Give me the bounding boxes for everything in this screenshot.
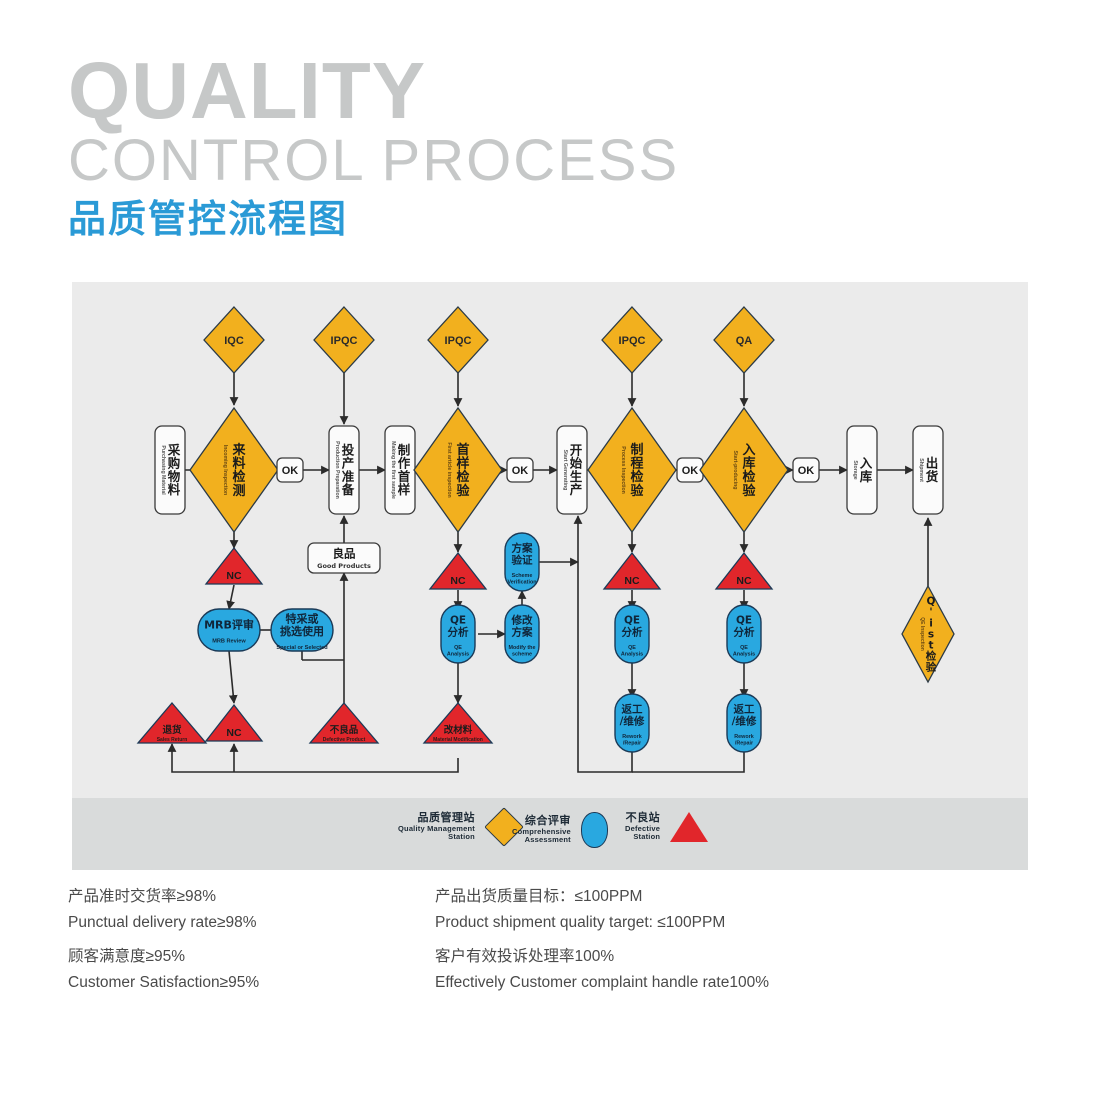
assessment-label-cn: 方案: [512, 541, 533, 554]
assessment-node-qe-first[interactable]: QE分析QEAnalysis: [441, 605, 475, 663]
assessment-label-cn: 验证: [512, 553, 533, 566]
node-label-cn: 检: [630, 469, 643, 485]
ok-label: OK: [512, 465, 529, 477]
flow-nodes: IQCIPQCIPQCIPQCQA采购物料Purchasing Material…: [138, 307, 954, 752]
assessment-label-en: Scheme: [512, 573, 533, 579]
legend-label-en: DefectiveStation: [625, 825, 660, 842]
assessment-node-qe-storage[interactable]: QE分析QEAnalysis: [727, 605, 761, 663]
node-label-en: Process Inspection: [620, 446, 626, 494]
process-node-ok3[interactable]: OK: [677, 458, 703, 482]
node-qe-inspection[interactable]: Q'ist检验QE Inspection: [902, 586, 954, 682]
ok-label: OK: [682, 465, 699, 477]
footer-text-cn: 顾客满意度≥95%: [68, 944, 259, 970]
assessment-label-en: Analysis: [447, 651, 469, 657]
defect-label-en: Defective Product: [323, 737, 366, 743]
assessment-node-special-sel[interactable]: 特采或挑选使用Special or Selected: [271, 609, 333, 651]
assessment-label-en: QE: [628, 645, 636, 651]
defect-node-nc-first[interactable]: NC: [430, 553, 486, 589]
defect-label-cn: 改材料: [444, 724, 473, 736]
node-label-en: Production Preparation: [334, 441, 340, 499]
process-node-start-prod[interactable]: 开始生产Start Generating: [557, 426, 587, 514]
ok-label: OK: [798, 465, 815, 477]
assessment-label-en: Analysis: [733, 651, 755, 657]
node-label-cn: 验: [926, 661, 937, 674]
node-label-cn: 备: [341, 482, 355, 497]
assessment-label-cn: QE: [450, 614, 466, 626]
assessment-label-cn: 返工: [734, 702, 755, 715]
node-label-cn: 首: [456, 442, 469, 458]
qc-station-label: IPQC: [331, 335, 358, 347]
oval-shape-icon: [581, 812, 608, 848]
node-label-en: QE Inspection: [919, 617, 925, 651]
footer-text-en: Product shipment quality target: ≤100PPM: [435, 910, 725, 936]
node-label-cn: 来: [231, 442, 246, 458]
node-label-cn: 验: [456, 483, 470, 499]
legend-label-en: ComprehensiveAssessment: [512, 828, 571, 845]
defect-label-en: Material Modification: [433, 737, 483, 743]
node-label-cn: 料: [232, 456, 245, 472]
assessment-label-cn: 方案: [512, 625, 533, 638]
process-node-ok4[interactable]: OK: [793, 458, 819, 482]
process-node-incoming-insp[interactable]: 来料检测Incoming Inspection: [190, 408, 278, 532]
legend-label-cn: 综合评审: [512, 815, 571, 828]
assessment-label-en: Verification: [507, 579, 536, 585]
qc-station-qa[interactable]: QA: [714, 307, 774, 373]
legend-label-en: Quality ManagementStation: [398, 825, 475, 842]
legend-label-cn: 品质管理站: [398, 812, 475, 825]
assessment-node-scheme-verify[interactable]: 方案验证SchemeVerification: [505, 533, 539, 591]
legend-label-cn: 不良站: [625, 812, 660, 825]
assessment-label-en: QE: [740, 645, 748, 651]
footer-text-cn: 客户有效投诉处理率100%: [435, 944, 769, 970]
defect-node-nc-incoming[interactable]: NC: [206, 548, 262, 584]
footer-text-cn: 产品出货质量目标：≤100PPM: [435, 884, 725, 910]
assessment-label-en: Modify the: [509, 645, 536, 651]
defect-label-cn: NC: [624, 575, 640, 587]
node-label-cn: 制: [630, 442, 643, 458]
node-label-en: Storage: [852, 460, 858, 479]
assessment-label-en: /Repair: [735, 740, 754, 746]
defect-label-cn: NC: [450, 575, 466, 587]
defect-label-cn: 不良品: [330, 724, 359, 736]
defect-label-cn: NC: [226, 727, 242, 739]
process-node-ok2[interactable]: OK: [507, 458, 533, 482]
assessment-label-cn: QE: [736, 614, 752, 626]
assessment-node-rework-storage[interactable]: 返工/维修Rework/Repair: [727, 694, 761, 752]
node-label-en: Making the first sample: [390, 441, 396, 499]
qc-station-label: QA: [736, 335, 753, 347]
assessment-label-cn: 特采或: [286, 611, 319, 625]
defect-node-material-mod[interactable]: 改材料Material Modification: [424, 703, 492, 743]
assessment-label-en: /Repair: [623, 740, 642, 746]
defect-label-cn: NC: [226, 570, 242, 582]
connector-line: [172, 744, 458, 772]
node-label-en: Purchasing Material: [160, 445, 166, 495]
process-node-first-sample[interactable]: 制作首样Making the first sample: [385, 426, 415, 514]
assessment-node-qe-process[interactable]: QE分析QEAnalysis: [615, 605, 649, 663]
assessment-label-en: Special or Selected: [276, 645, 328, 651]
node-label-en: First article inspection: [446, 442, 452, 497]
assessment-label-cn: 分析: [448, 625, 469, 638]
triangle-shape-icon: [670, 812, 708, 842]
process-node-process-insp[interactable]: 制程检验Process Inspection: [588, 408, 676, 532]
node-label-cn: 检: [456, 469, 469, 485]
process-node-purchasing[interactable]: 采购物料Purchasing Material: [155, 426, 185, 514]
connector-line: [229, 585, 234, 609]
assessment-label-cn: 返工: [622, 702, 643, 715]
node-label-cn: 库: [860, 469, 873, 484]
process-node-shipment[interactable]: 出货Shipment: [913, 426, 943, 514]
defect-label-cn: NC: [736, 575, 752, 587]
connector-line: [229, 651, 234, 703]
assessment-label-cn: /维修: [732, 714, 757, 727]
footer-text-en: Customer Satisfaction≥95%: [68, 970, 259, 996]
assessment-label-cn: 挑选使用: [280, 624, 324, 638]
process-node-prod-prep[interactable]: 投产准备Production Preparation: [329, 426, 359, 514]
node-label-cn: 样: [398, 482, 411, 497]
node-label-cn: 检: [742, 469, 755, 485]
qc-station-label: IQC: [224, 335, 244, 347]
assessment-node-rework-process[interactable]: 返工/维修Rework/Repair: [615, 694, 649, 752]
assessment-label-en: MRB Review: [212, 639, 246, 645]
node-label-cn: 库: [742, 456, 755, 472]
assessment-label-en: Rework: [734, 734, 753, 740]
defect-node-nc-storage[interactable]: NC: [716, 553, 772, 589]
footer-text-en: Punctual delivery rate≥98%: [68, 910, 257, 936]
footer-text-cn: 产品准时交货率≥98%: [68, 884, 257, 910]
flow-edges: [172, 373, 928, 772]
footer-customer-satisfaction: 顾客满意度≥95% Customer Satisfaction≥95%: [68, 944, 259, 996]
node-label-cn: 产: [570, 482, 583, 497]
process-node-storage-insp[interactable]: 入库检验Start-producing: [700, 408, 788, 532]
node-label: 良品: [333, 547, 356, 561]
defect-node-defective[interactable]: 不良品Defective Product: [310, 703, 378, 743]
legend-item-quality-management-station: 品质管理站 Quality ManagementStation: [398, 812, 523, 842]
legend-item-defective-station: 不良站 DefectiveStation: [625, 812, 708, 842]
node-label-cn: 料: [168, 482, 181, 497]
footer-shipment-quality: 产品出货质量目标：≤100PPM Product shipment qualit…: [435, 884, 725, 936]
assessment-label-en: QE: [454, 645, 462, 651]
footer-complaint-handle: 客户有效投诉处理率100% Effectively Customer compl…: [435, 944, 769, 996]
footer-text-en: Effectively Customer complaint handle ra…: [435, 970, 769, 996]
node-label-cn: 测: [232, 483, 245, 499]
process-node-first-article[interactable]: 首样检验First article inspection: [414, 408, 502, 532]
connector-line: [632, 749, 744, 772]
defect-node-nc-bottom[interactable]: NC: [206, 705, 262, 741]
assessment-label-cn: 修改: [511, 613, 533, 626]
qc-station-iqc[interactable]: IQC: [204, 307, 264, 373]
qc-station-ipqc1[interactable]: IPQC: [314, 307, 374, 373]
assessment-label-en: Analysis: [621, 651, 643, 657]
defect-node-sales-return[interactable]: 退货Sales Return: [138, 703, 206, 743]
assessment-label-cn: MRB评审: [204, 618, 254, 632]
qc-station-label: IPQC: [619, 335, 646, 347]
node-label: Good Products: [317, 562, 371, 570]
node-label-cn: 样: [456, 456, 469, 472]
process-node-ok1[interactable]: OK: [277, 458, 303, 482]
assessment-label-cn: QE: [624, 614, 640, 626]
defect-label-cn: 退货: [162, 724, 182, 736]
qc-station-ipqc3[interactable]: IPQC: [602, 307, 662, 373]
footer-punctual-delivery: 产品准时交货率≥98% Punctual delivery rate≥98%: [68, 884, 257, 936]
assessment-label-en: Rework: [622, 734, 641, 740]
qc-station-label: IPQC: [445, 335, 472, 347]
assessment-node-mrb-review[interactable]: MRB评审MRB Review: [198, 609, 260, 651]
legend-item-comprehensive-assessment: 综合评审 ComprehensiveAssessment: [512, 812, 608, 848]
assessment-label-cn: /维修: [620, 714, 645, 727]
node-label-cn: 验: [630, 483, 644, 499]
process-node-storage[interactable]: 入库Storage: [847, 426, 877, 514]
defect-label-en: Sales Return: [157, 737, 188, 743]
assessment-label-cn: 分析: [734, 625, 755, 638]
node-label-cn: 检: [232, 469, 245, 485]
node-label-en: Shipment: [918, 458, 924, 482]
node-label-en: Start Generating: [562, 450, 568, 491]
ok-label: OK: [282, 465, 299, 477]
node-label-cn: 验: [742, 483, 756, 499]
assessment-node-modify-scheme[interactable]: 修改方案Modify thescheme: [505, 605, 539, 663]
node-label-cn: 货: [926, 469, 939, 484]
assessment-label-en: scheme: [512, 651, 532, 657]
assessment-label-cn: 分析: [622, 625, 643, 638]
node-label-en: Incoming Inspection: [222, 445, 228, 495]
node-label-en: Start-producing: [732, 451, 738, 490]
node-good-products[interactable]: 良品Good Products: [308, 543, 380, 573]
qc-station-ipqc2[interactable]: IPQC: [428, 307, 488, 373]
defect-node-nc-process[interactable]: NC: [604, 553, 660, 589]
